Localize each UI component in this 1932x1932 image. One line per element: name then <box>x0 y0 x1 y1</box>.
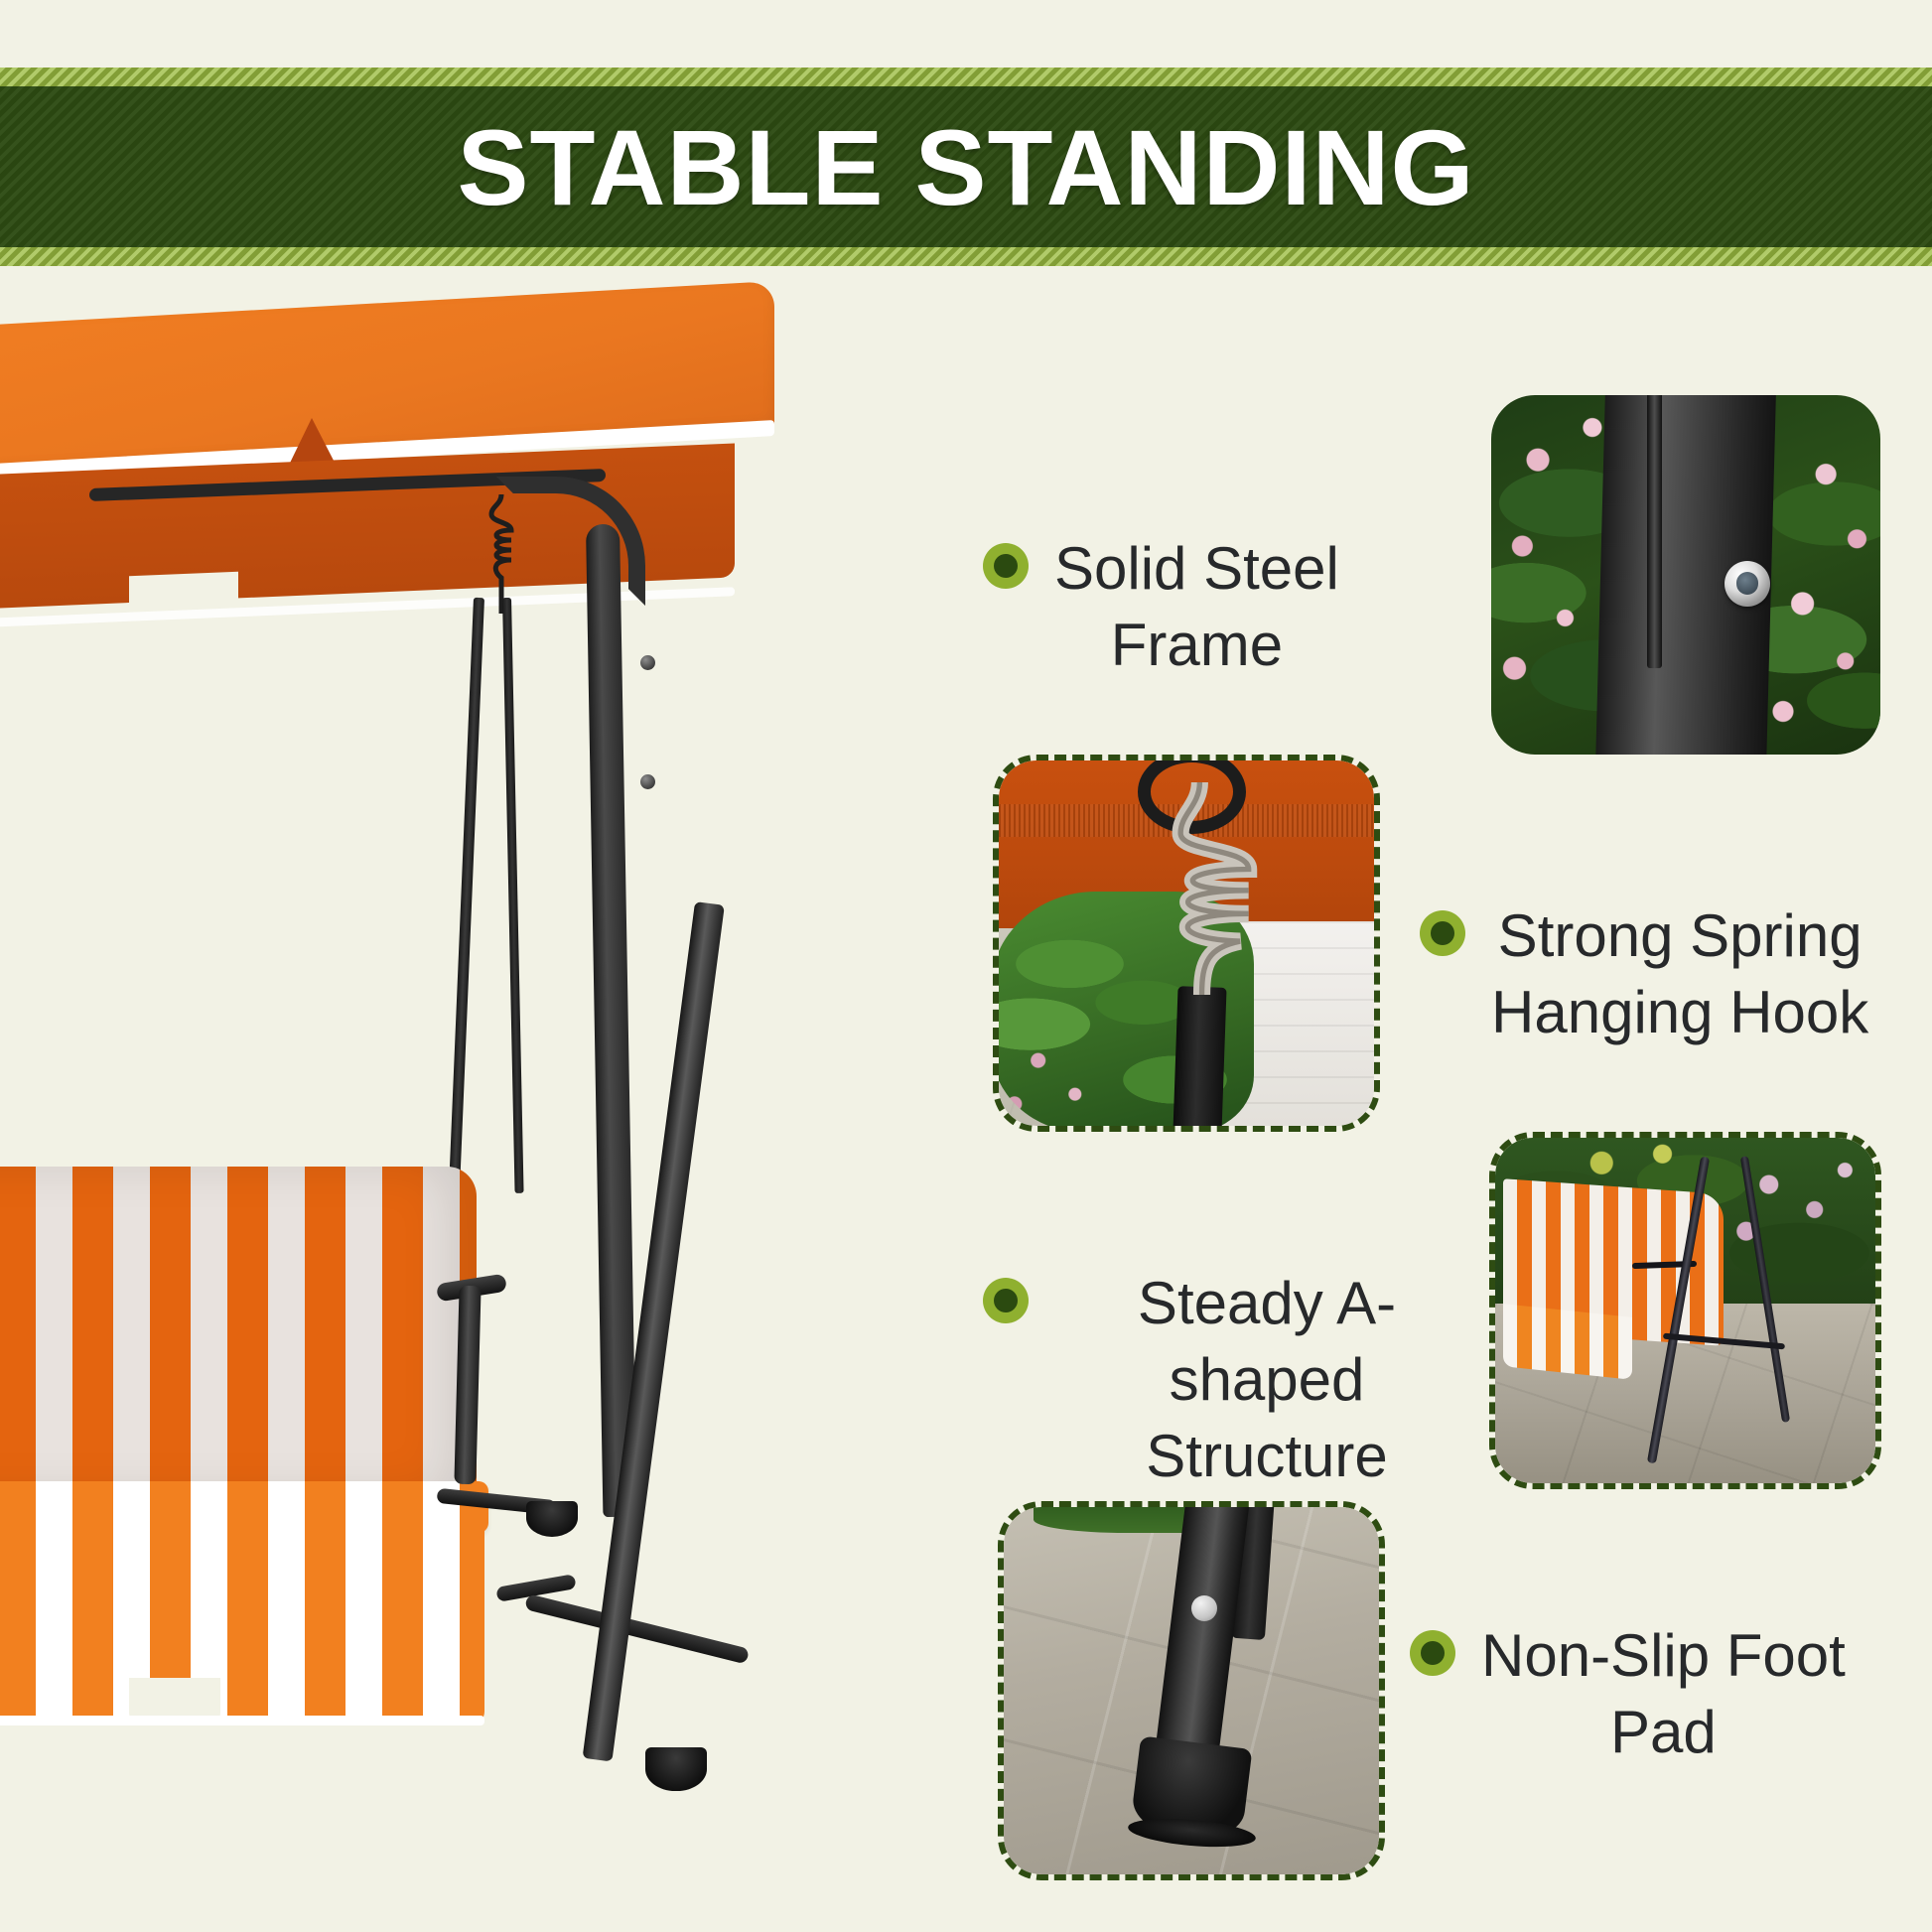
frame-rivet-lower <box>640 774 655 789</box>
seat-back-cushion <box>0 1167 477 1494</box>
feature-solid-steel-frame: Solid Steel Frame <box>983 531 1400 684</box>
spring-coil-icon <box>1134 782 1262 994</box>
steel-tube-seam <box>1647 395 1663 668</box>
frame-cross-brace <box>524 1593 750 1664</box>
page-title: STABLE STANDING <box>0 68 1932 266</box>
seat-skirt <box>0 1527 484 1725</box>
photo-steel-tube-with-bolt <box>1491 395 1880 755</box>
feature-non-slip-foot-pad: Non-Slip Foot Pad <box>1410 1618 1876 1771</box>
feature-label-strong-spring-hanging-hook: Strong Spring Hanging Hook <box>1491 898 1868 1051</box>
frame-pole <box>1173 986 1226 1126</box>
foot-cap-rear <box>526 1501 578 1537</box>
seat-skirt-notch <box>129 1678 220 1737</box>
frame-back-post <box>586 524 636 1517</box>
foot-cap-front <box>645 1747 707 1791</box>
screw-icon <box>1191 1595 1217 1621</box>
hanging-strap-right <box>502 598 524 1193</box>
bullet-icon <box>983 1278 1029 1323</box>
feature-label-steady-a-shaped-structure: Steady A-shaped Structure <box>1054 1266 1479 1494</box>
canopy-underside-scallop <box>129 572 238 640</box>
bullet-icon <box>983 543 1029 589</box>
feature-photo-steady-a-shaped-structure <box>1489 1132 1881 1489</box>
seat-skirt-trim <box>0 1716 484 1725</box>
armrest-post <box>454 1286 481 1485</box>
feature-label-non-slip-foot-pad: Non-Slip Foot Pad <box>1481 1618 1846 1771</box>
hanging-strap-left <box>448 598 484 1213</box>
infographic-page: STABLE STANDING <box>0 0 1932 1932</box>
photo-foot-pad <box>1004 1507 1379 1874</box>
bullet-icon <box>1420 910 1465 956</box>
bolt-icon <box>1725 561 1770 607</box>
feature-photo-solid-steel-frame <box>1491 395 1880 755</box>
frame-rivet-upper <box>640 655 655 670</box>
product-hero-image <box>0 328 854 1608</box>
feature-photo-strong-spring-hanging-hook <box>993 755 1380 1132</box>
photo-a-frame-swing <box>1495 1138 1875 1483</box>
bullet-icon <box>1410 1630 1455 1676</box>
feature-strong-spring-hanging-hook: Strong Spring Hanging Hook <box>1420 898 1886 1051</box>
feature-label-solid-steel-frame: Solid Steel Frame <box>1054 531 1339 684</box>
feature-steady-a-shaped-structure: Steady A-shaped Structure <box>983 1266 1479 1494</box>
feature-photo-non-slip-foot-pad <box>998 1501 1385 1880</box>
seat-cushion-lip <box>0 1481 488 1533</box>
photo-spring-hook <box>999 760 1374 1126</box>
